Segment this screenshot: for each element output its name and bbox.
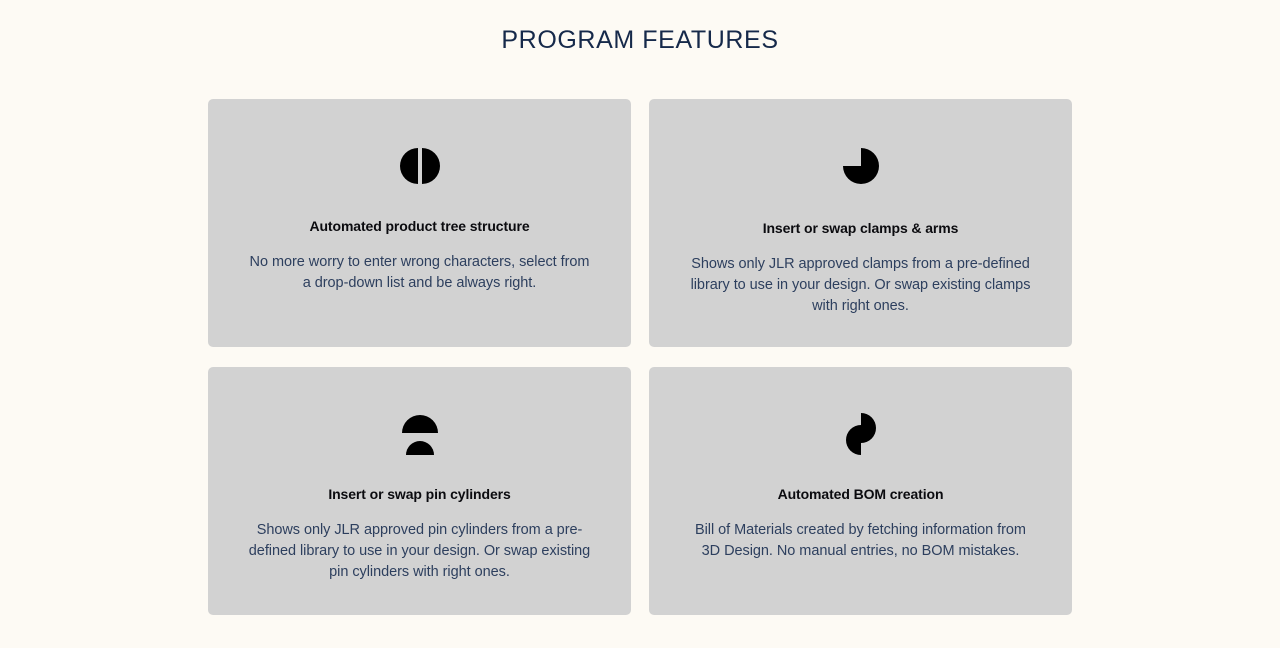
feature-card-title: Automated product tree structure: [309, 187, 529, 235]
feature-card-body: No more worry to enter wrong characters,…: [244, 235, 595, 294]
feature-card-body: Shows only JLR approved pin cylinders fr…: [244, 503, 595, 583]
stacked-domes-icon: [400, 413, 440, 455]
feature-card-title: Automated BOM creation: [778, 455, 944, 503]
three-quarter-pie-icon: [841, 145, 881, 187]
feature-card-body: Shows only JLR approved clamps from a pr…: [689, 237, 1033, 317]
feature-card-title: Insert or swap pin cylinders: [328, 455, 510, 503]
feature-card-title: Insert or swap clamps & arms: [763, 187, 959, 237]
feature-card-automated-product-tree-structure[interactable]: Automated product tree structure No more…: [208, 99, 631, 347]
feature-card-insert-or-swap-clamps-and-arms[interactable]: Insert or swap clamps & arms Shows only …: [649, 99, 1072, 347]
feature-card-automated-bom-creation[interactable]: Automated BOM creation Bill of Materials…: [649, 367, 1072, 615]
program-features-page: PROGRAM FEATURES Automated product tree …: [0, 0, 1280, 648]
offset-half-discs-icon: [844, 413, 878, 455]
feature-card-insert-or-swap-pin-cylinders[interactable]: Insert or swap pin cylinders Shows only …: [208, 367, 631, 615]
opposing-half-discs-icon: [400, 145, 440, 187]
feature-card-body: Bill of Materials created by fetching in…: [685, 503, 1036, 562]
page-title: PROGRAM FEATURES: [0, 0, 1280, 55]
features-grid: Automated product tree structure No more…: [208, 55, 1072, 615]
